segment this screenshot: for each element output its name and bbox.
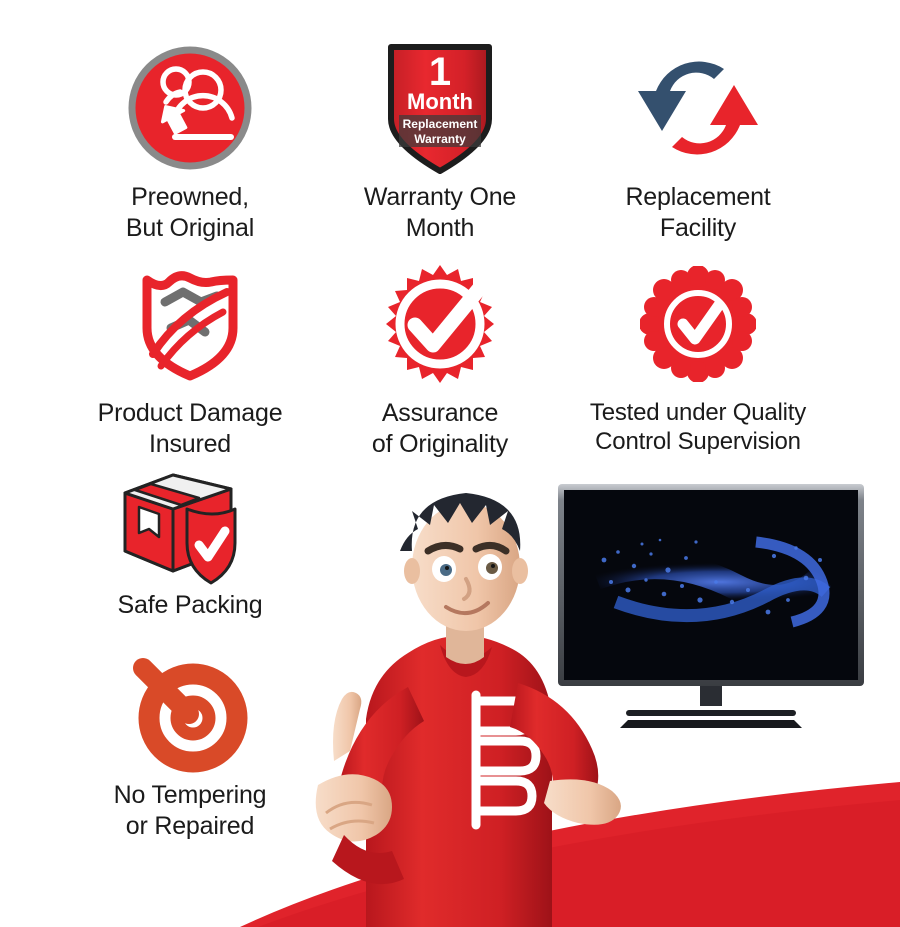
feature-caption: No Tempering or Repaired [40,780,340,841]
feature-quality-tested: Tested under Quality Control Supervision [548,250,848,457]
warranty-line-b: Warranty [414,132,466,146]
box-shield-check-icon-wrap [40,462,340,590]
warranty-line-a: Replacement [403,117,478,131]
feature-no-tempering: No Tempering or Repaired [40,652,340,841]
replacement-cycle-arrows-icon-wrap [548,34,848,182]
warranty-period: Month [407,89,473,114]
damaged-shield-icon [127,262,253,386]
no-wrench-circle-icon-wrap [40,652,340,780]
rosette-check-icon-wrap [548,250,848,398]
feature-safe-packing: Safe Packing [40,462,340,621]
no-wrench-circle-icon [127,654,253,778]
box-shield-check-icon [115,465,265,587]
feature-caption: Tested under Quality Control Supervision [548,398,848,457]
promo-feature-banner: Preowned, But Original 1 Month Replaceme… [0,0,900,927]
warranty-shield-badge-icon: 1 Month Replacement Warranty [381,37,499,179]
feature-caption: Replacement Facility [548,182,848,243]
feature-replacement: Replacement Facility [548,34,848,243]
feature-assurance: Assurance of Originality [290,250,590,459]
feature-caption: Safe Packing [40,590,340,621]
starburst-check-icon [379,263,501,385]
warranty-shield-badge-icon-wrap: 1 Month Replacement Warranty [290,34,590,182]
mascot-hand-right [544,779,621,824]
feature-warranty: 1 Month Replacement Warranty Warranty On… [290,34,590,243]
mascot-character [300,455,630,927]
tv-neck [700,686,722,706]
feature-caption: Assurance of Originality [290,398,590,459]
warranty-number: 1 [429,50,451,94]
starburst-check-icon-wrap [290,250,590,398]
preowned-user-arrow-icon [128,46,252,170]
tv-base [620,720,802,728]
rosette-check-icon [640,266,756,382]
feature-caption: Warranty One Month [290,182,590,243]
replacement-cycle-arrows-icon [628,47,768,169]
